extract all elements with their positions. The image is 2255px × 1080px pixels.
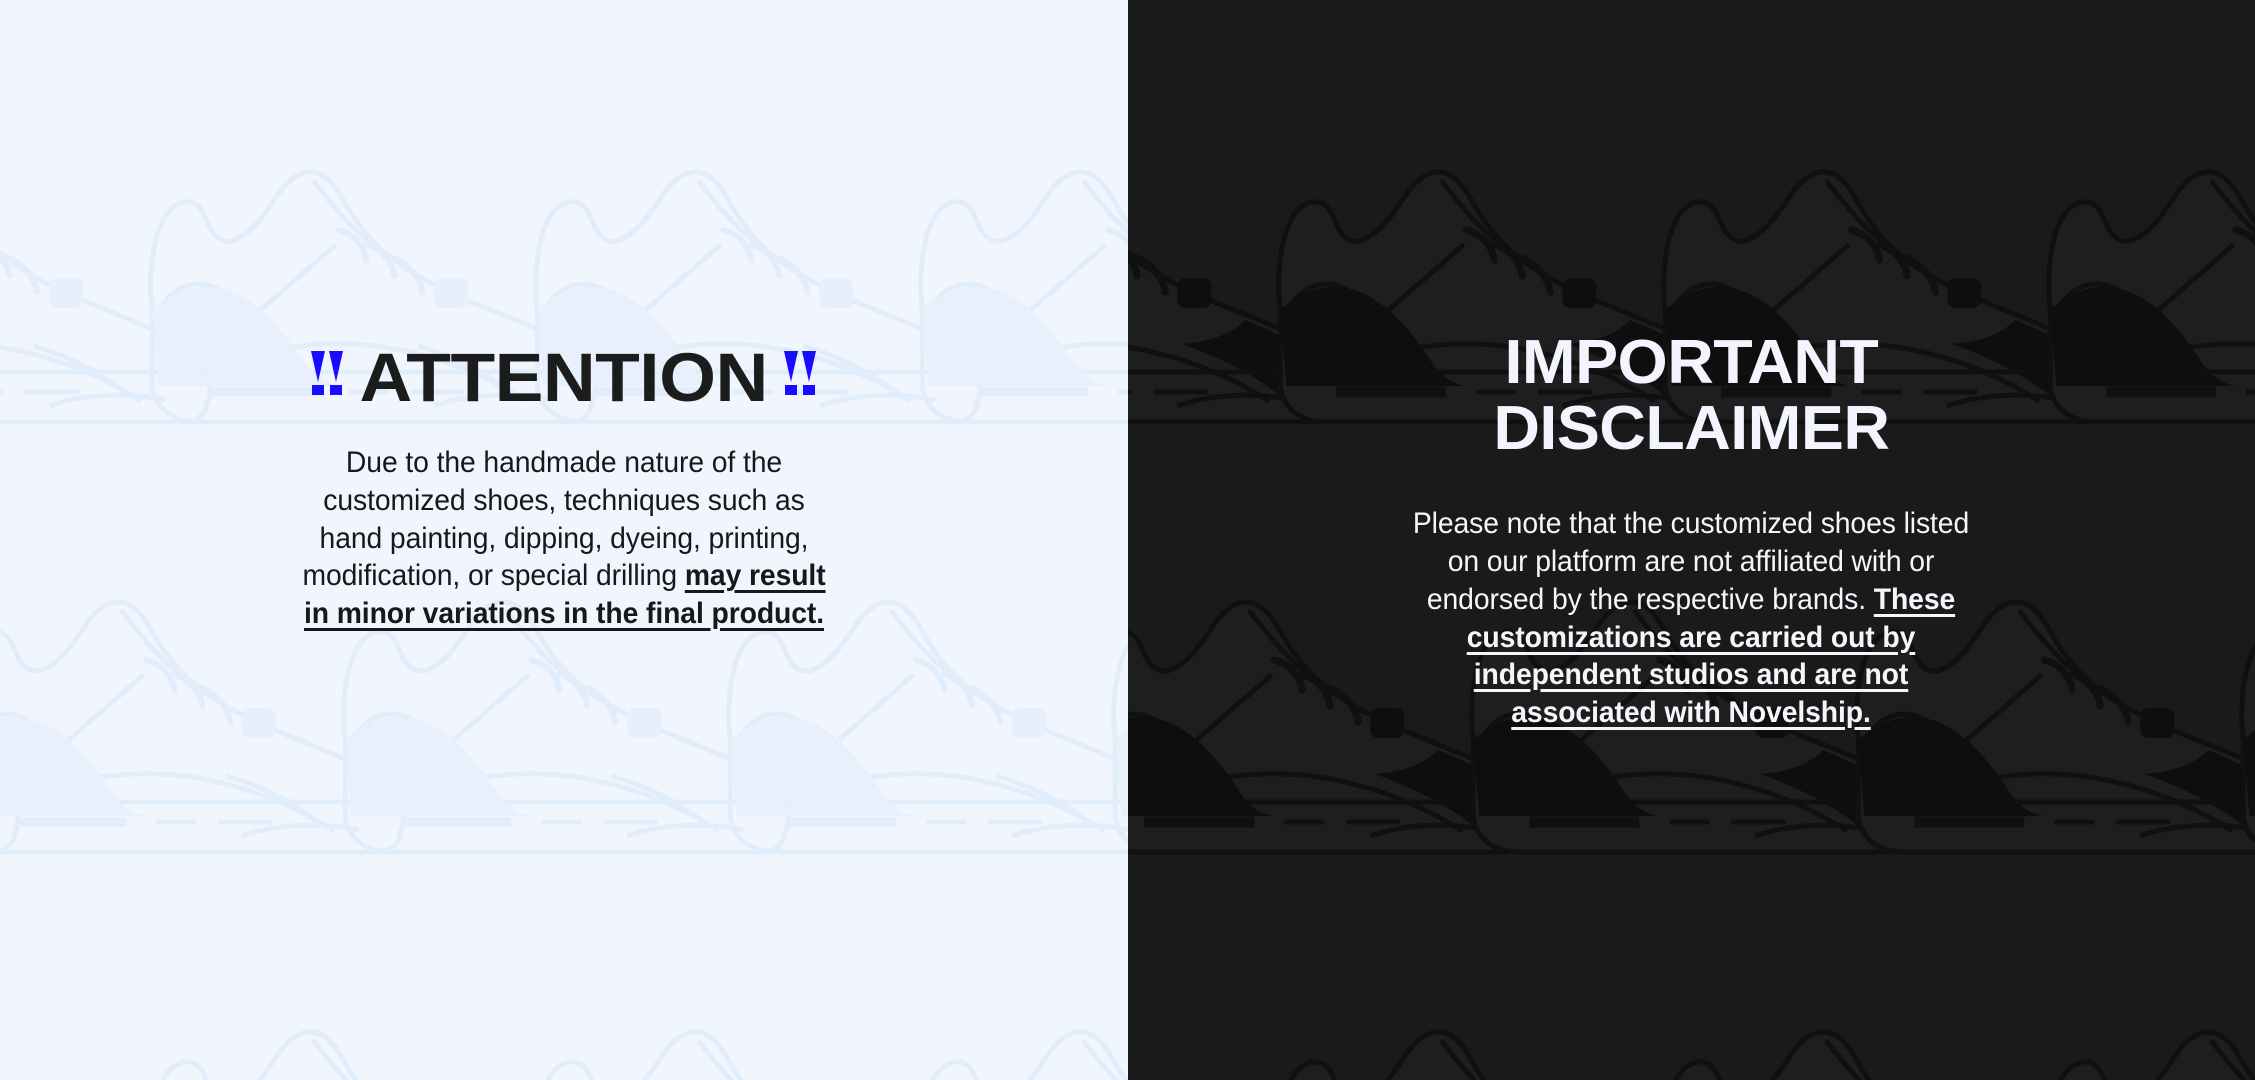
disclaimer-content: IMPORTANT DISCLAIMER Please note that th… (1128, 0, 2255, 732)
double-exclamation-left-icon (309, 348, 345, 404)
attention-panel: ATTENTION Due to the handmade nature of … (0, 0, 1128, 1080)
attention-heading-text: ATTENTION (360, 343, 768, 412)
disclaimer-heading: IMPORTANT DISCLAIMER (1493, 330, 1889, 461)
double-exclamation-right-icon (782, 348, 818, 404)
attention-body: Due to the handmade nature of the custom… (295, 444, 833, 633)
attention-heading: ATTENTION (309, 343, 818, 412)
disclaimer-panel: IMPORTANT DISCLAIMER Please note that th… (1128, 0, 2255, 1080)
disclaimer-banner: ATTENTION Due to the handmade nature of … (0, 0, 2255, 1080)
attention-content: ATTENTION Due to the handmade nature of … (0, 0, 1128, 633)
disclaimer-body: Please note that the customized shoes li… (1413, 505, 1970, 732)
